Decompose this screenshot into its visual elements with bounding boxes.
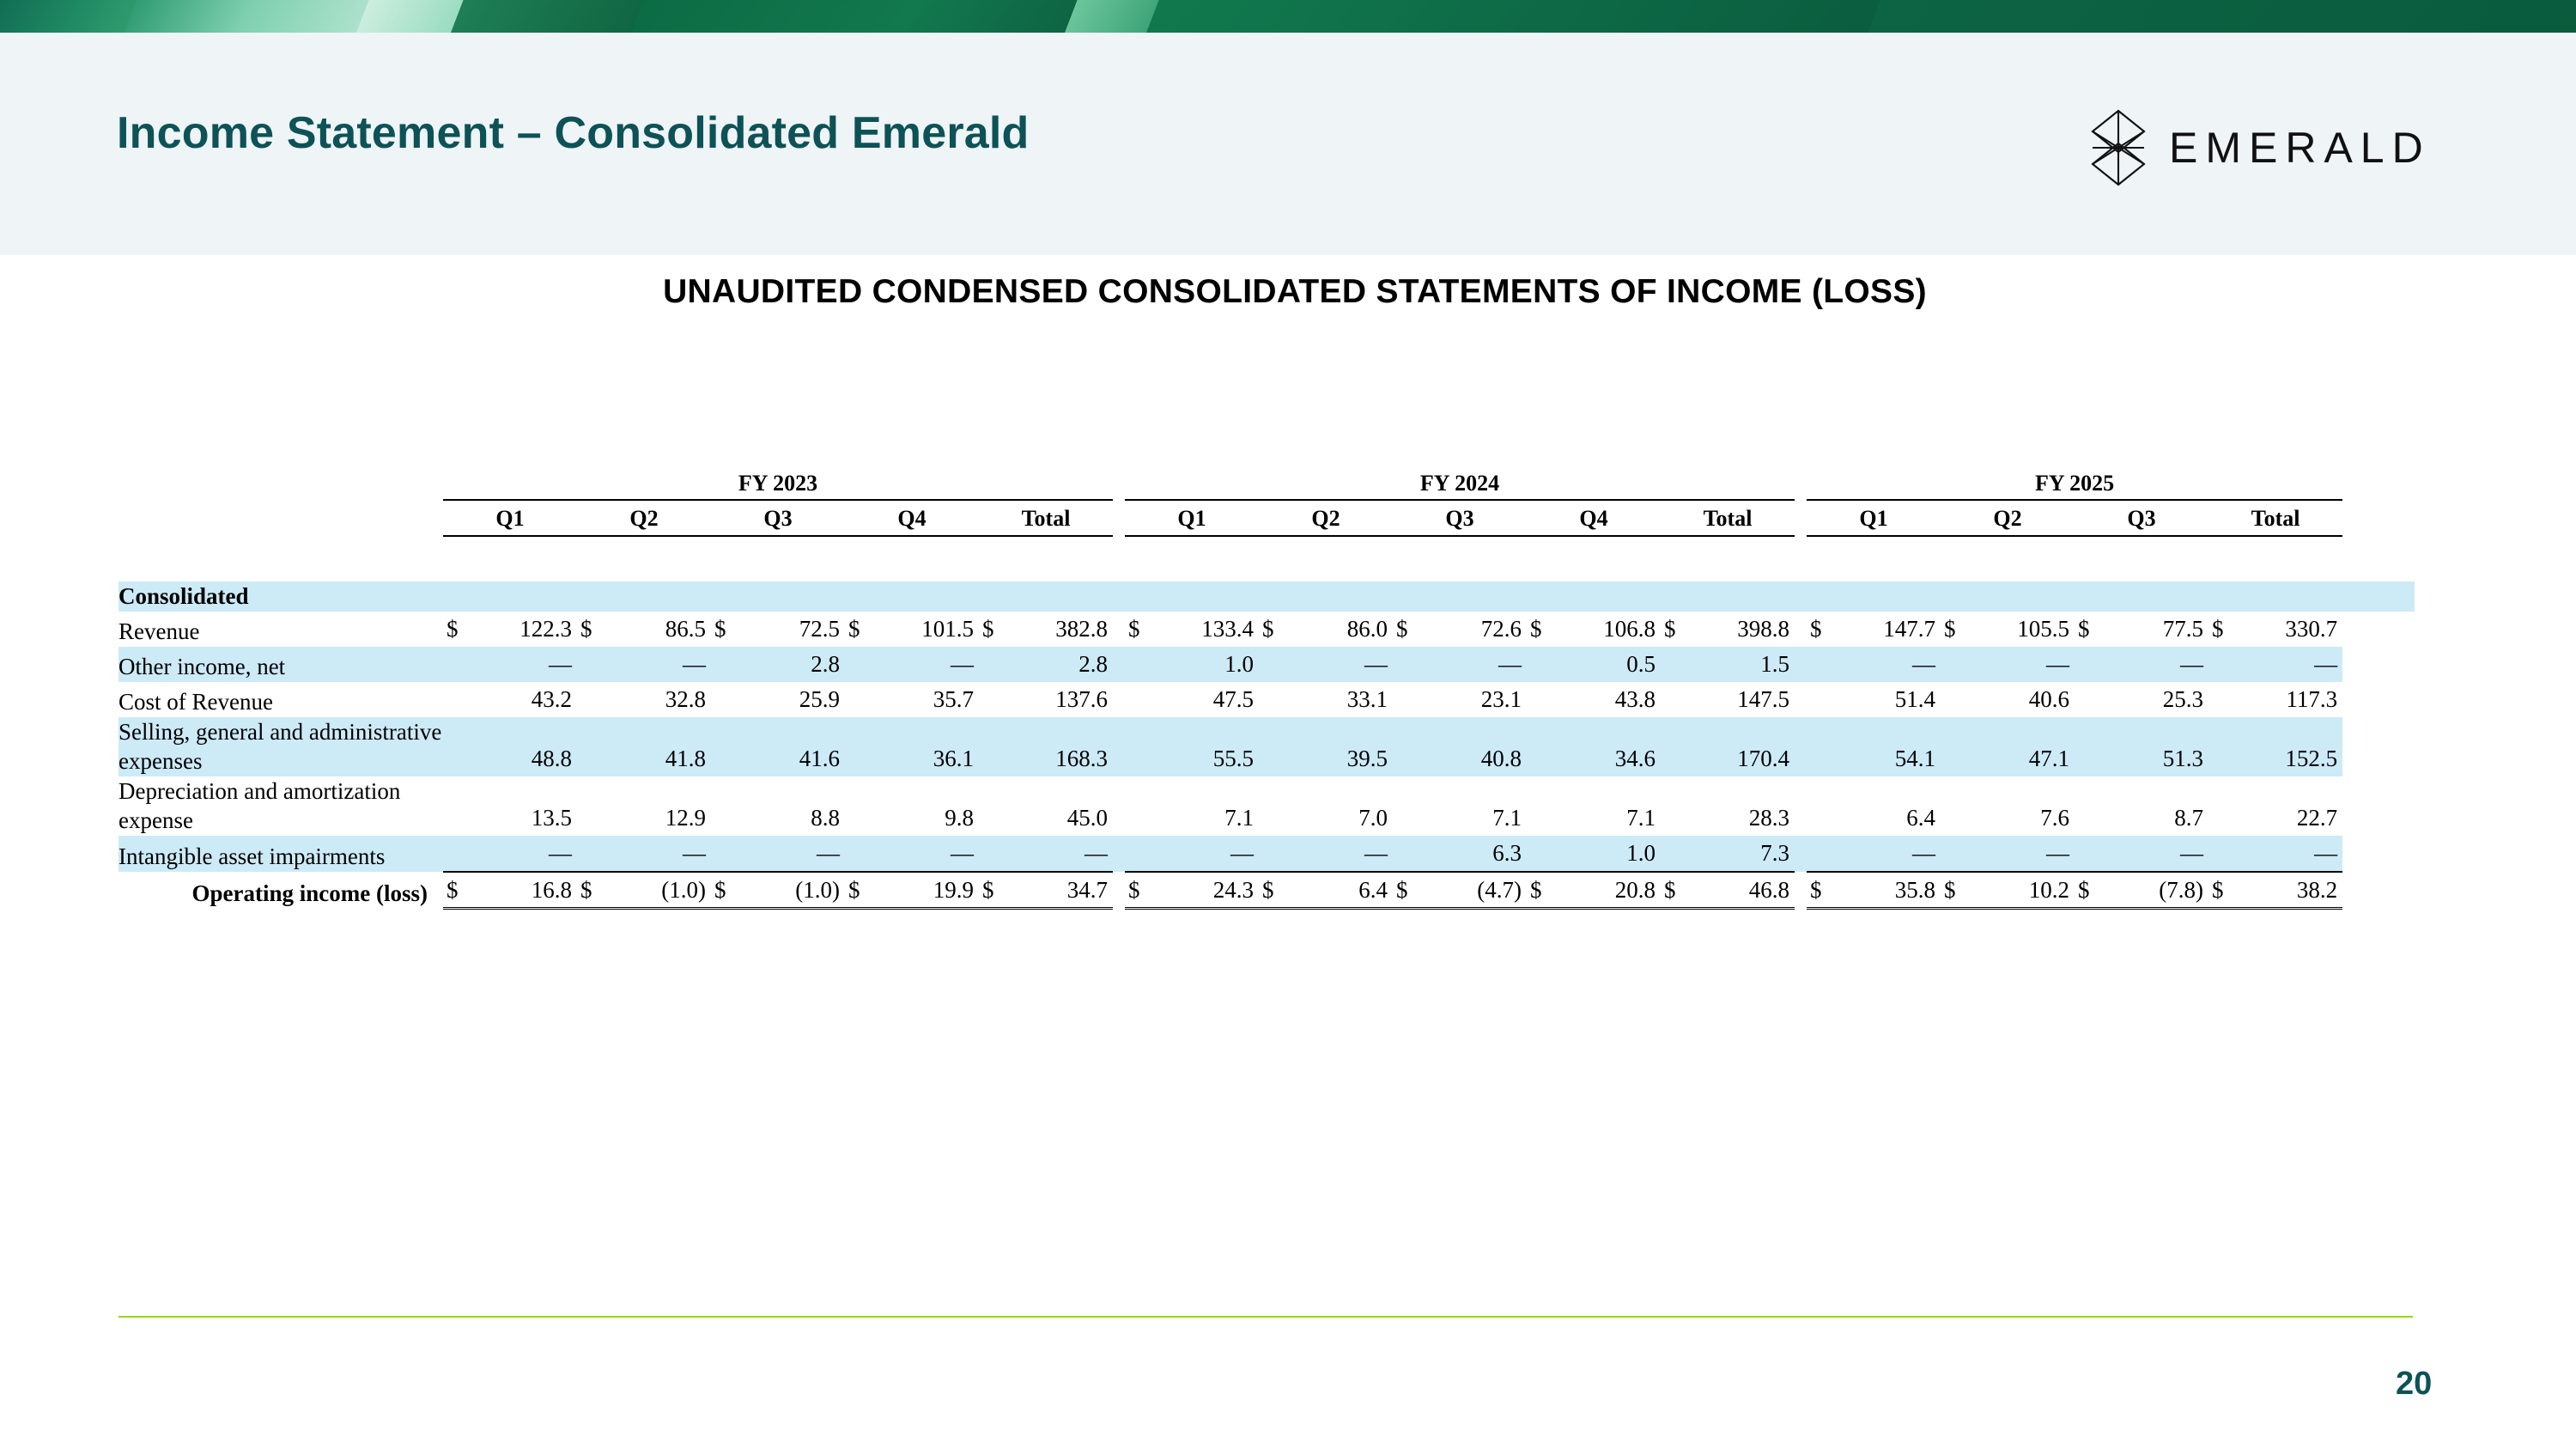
currency-symbol — [2208, 647, 2238, 682]
fy-gap — [1795, 471, 1807, 500]
page-title: Income Statement – Consolidated Emerald — [117, 107, 1030, 159]
row-label: Intangible asset impairments — [118, 836, 443, 872]
col-header-fy2025-q2: Q2 — [1941, 500, 2075, 536]
cell-value: 35.8 — [1836, 872, 1941, 909]
currency-symbol: $ — [1125, 872, 1154, 909]
cell-value: — — [1970, 836, 2075, 872]
cell-value: 25.3 — [2104, 682, 2208, 717]
cell-value: 1.0 — [1556, 836, 1661, 872]
cell-value: 40.8 — [1422, 717, 1527, 776]
cell-value: — — [2238, 836, 2342, 872]
currency-symbol — [1527, 647, 1556, 682]
cell-value: 6.4 — [1836, 776, 1941, 836]
cell-value: 7.1 — [1422, 776, 1527, 836]
group-gap — [1113, 872, 1125, 909]
currency-symbol — [577, 682, 606, 717]
currency-symbol — [577, 647, 606, 682]
cell-value: — — [1008, 836, 1113, 872]
cell-value: 46.8 — [1690, 872, 1795, 909]
currency-symbol — [1125, 776, 1154, 836]
currency-symbol — [2208, 776, 2238, 836]
currency-symbol — [845, 836, 874, 872]
group-gap — [1113, 836, 1125, 872]
cell-value: 48.8 — [472, 717, 577, 776]
currency-symbol — [1527, 776, 1556, 836]
table-row: Other income, net——2.8—2.81.0——0.51.5———… — [118, 647, 2415, 682]
cell-value: 101.5 — [874, 612, 979, 647]
cell-value: 7.6 — [1970, 776, 2075, 836]
currency-symbol — [577, 776, 606, 836]
currency-symbol — [1259, 836, 1288, 872]
group-gap — [1795, 717, 1807, 776]
currency-symbol — [2075, 682, 2104, 717]
currency-symbol: $ — [979, 872, 1008, 909]
currency-symbol — [979, 647, 1008, 682]
cell-value: 72.5 — [740, 612, 845, 647]
quarter-header-blank — [118, 500, 443, 536]
cell-value: 28.3 — [1690, 776, 1795, 836]
group-gap — [1113, 776, 1125, 836]
currency-symbol — [443, 776, 472, 836]
cell-value: 0.5 — [1556, 647, 1661, 682]
cell-value: 9.8 — [874, 776, 979, 836]
cell-value: 2.8 — [740, 647, 845, 682]
currency-symbol — [1527, 836, 1556, 872]
cell-value: 13.5 — [472, 776, 577, 836]
currency-symbol — [1259, 647, 1288, 682]
currency-symbol — [1807, 682, 1836, 717]
currency-symbol: $ — [2208, 872, 2238, 909]
currency-symbol — [443, 682, 472, 717]
cell-value: 36.1 — [874, 717, 979, 776]
cell-value: 43.2 — [472, 682, 577, 717]
currency-symbol — [1807, 717, 1836, 776]
cell-value: — — [606, 647, 711, 682]
cell-value: 106.8 — [1556, 612, 1661, 647]
currency-symbol — [1807, 776, 1836, 836]
cell-value: — — [1970, 647, 2075, 682]
cell-value: 6.4 — [1288, 872, 1393, 909]
cell-value: 10.2 — [1970, 872, 2075, 909]
cell-value: — — [1422, 647, 1527, 682]
currency-symbol: $ — [979, 612, 1008, 647]
emerald-gem-icon — [2090, 108, 2147, 187]
cell-value: 25.9 — [740, 682, 845, 717]
currency-symbol — [2208, 682, 2238, 717]
cell-value: 170.4 — [1690, 717, 1795, 776]
footer-divider — [118, 1316, 2413, 1318]
currency-symbol: $ — [1527, 872, 1556, 909]
currency-symbol — [2075, 717, 2104, 776]
currency-symbol — [845, 776, 874, 836]
cell-value: 41.6 — [740, 717, 845, 776]
cell-value: 19.9 — [874, 872, 979, 909]
group-gap — [1795, 776, 1807, 836]
cell-value: (1.0) — [606, 872, 711, 909]
fiscal-year-header-row: FY 2023 FY 2024 FY 2025 — [118, 471, 2415, 500]
group-gap — [1113, 647, 1125, 682]
cell-value: 41.8 — [606, 717, 711, 776]
cell-value: — — [2104, 647, 2208, 682]
cell-value: 7.1 — [1154, 776, 1259, 836]
banner-stripe — [621, 0, 1097, 33]
cell-value: 47.1 — [1970, 717, 2075, 776]
group-gap — [1795, 682, 1807, 717]
currency-symbol — [979, 836, 1008, 872]
cell-value: 86.0 — [1288, 612, 1393, 647]
quarter-gap — [1113, 500, 1125, 536]
fy-gap — [1113, 471, 1125, 500]
page-number: 20 — [2396, 1366, 2432, 1403]
row-label: Cost of Revenue — [118, 682, 443, 717]
statement-subtitle-text: UNAUDITED CONDENSED CONSOLIDATED STATEME… — [663, 273, 1927, 310]
currency-symbol — [1125, 836, 1154, 872]
row-label: Operating income (loss) — [118, 872, 443, 909]
cell-value: 32.8 — [606, 682, 711, 717]
currency-symbol — [711, 647, 740, 682]
cell-value: 20.8 — [1556, 872, 1661, 909]
group-gap — [1795, 872, 1807, 909]
cell-value: 35.7 — [874, 682, 979, 717]
cell-value: 8.8 — [740, 776, 845, 836]
statement-subtitle: UNAUDITED CONDENSED CONSOLIDATED STATEME… — [0, 273, 2576, 311]
cell-value: (1.0) — [740, 872, 845, 909]
cell-value: 7.0 — [1288, 776, 1393, 836]
currency-symbol — [443, 717, 472, 776]
currency-symbol: $ — [1125, 612, 1154, 647]
currency-symbol: $ — [1807, 872, 1836, 909]
cell-value: 34.7 — [1008, 872, 1113, 909]
currency-symbol — [979, 717, 1008, 776]
cell-value: (4.7) — [1422, 872, 1527, 909]
currency-symbol: $ — [1259, 612, 1288, 647]
currency-symbol: $ — [2208, 612, 2238, 647]
cell-value: — — [1288, 836, 1393, 872]
cell-value: — — [1288, 647, 1393, 682]
col-header-fy2024-q4: Q4 — [1527, 500, 1661, 536]
header-spacer-cell — [118, 536, 2415, 581]
fy-group-fy2024: FY 2024 — [1125, 471, 1795, 500]
currency-symbol: $ — [577, 612, 606, 647]
currency-symbol: $ — [1807, 612, 1836, 647]
group-gap — [1113, 717, 1125, 776]
cell-value: — — [472, 836, 577, 872]
currency-symbol — [1941, 682, 1970, 717]
currency-symbol — [1661, 647, 1690, 682]
col-header-fy2024-q1: Q1 — [1125, 500, 1259, 536]
col-header-fy2024-total: Total — [1661, 500, 1795, 536]
currency-symbol — [1393, 836, 1422, 872]
section-fill — [443, 581, 2415, 612]
cell-value: 7.1 — [1556, 776, 1661, 836]
currency-symbol — [1661, 836, 1690, 872]
col-header-fy2025-q3: Q3 — [2075, 500, 2208, 536]
currency-symbol — [2075, 836, 2104, 872]
col-header-fy2025-q1: Q1 — [1807, 500, 1941, 536]
cell-value: — — [2104, 836, 2208, 872]
currency-symbol — [979, 776, 1008, 836]
cell-value: — — [1836, 647, 1941, 682]
table-row: Intangible asset impairments———————6.31.… — [118, 836, 2415, 872]
cell-value: 2.8 — [1008, 647, 1113, 682]
table-row: Selling, general and administrative expe… — [118, 717, 2415, 776]
currency-symbol — [577, 836, 606, 872]
currency-symbol — [1941, 776, 1970, 836]
brand-logo: EMERALD — [2090, 108, 2431, 187]
currency-symbol — [711, 776, 740, 836]
currency-symbol: $ — [1661, 872, 1690, 909]
cell-value: 1.5 — [1690, 647, 1795, 682]
currency-symbol — [1941, 836, 1970, 872]
currency-symbol: $ — [711, 872, 740, 909]
table-section-row: Consolidated — [118, 581, 2415, 612]
currency-symbol: $ — [2075, 872, 2104, 909]
cell-value: 86.5 — [606, 612, 711, 647]
col-header-fy2023-total: Total — [979, 500, 1113, 536]
cell-value: 33.1 — [1288, 682, 1393, 717]
cell-value: 1.0 — [1154, 647, 1259, 682]
cell-value: 7.3 — [1690, 836, 1795, 872]
row-label: Other income, net — [118, 647, 443, 682]
table-row: Operating income (loss)$16.8$(1.0)$(1.0)… — [118, 872, 2415, 909]
cell-value: — — [472, 647, 577, 682]
col-header-fy2023-q4: Q4 — [845, 500, 979, 536]
cell-value: 39.5 — [1288, 717, 1393, 776]
cell-value: 8.7 — [2104, 776, 2208, 836]
currency-symbol — [1125, 682, 1154, 717]
cell-value: 147.5 — [1690, 682, 1795, 717]
currency-symbol — [1941, 647, 1970, 682]
currency-symbol: $ — [711, 612, 740, 647]
cell-value: 12.9 — [606, 776, 711, 836]
col-header-fy2024-q3: Q3 — [1393, 500, 1527, 536]
currency-symbol — [1527, 682, 1556, 717]
cell-value: 45.0 — [1008, 776, 1113, 836]
cell-value: 152.5 — [2238, 717, 2342, 776]
income-statement-body: ConsolidatedRevenue$122.3$86.5$72.5$101.… — [118, 581, 2415, 908]
cell-value: 117.3 — [2238, 682, 2342, 717]
currency-symbol — [1259, 717, 1288, 776]
currency-symbol — [1259, 776, 1288, 836]
col-header-fy2024-q2: Q2 — [1259, 500, 1393, 536]
currency-symbol — [845, 717, 874, 776]
currency-symbol — [711, 717, 740, 776]
currency-symbol — [711, 682, 740, 717]
cell-value: 54.1 — [1836, 717, 1941, 776]
currency-symbol — [1941, 717, 1970, 776]
cell-value: — — [2238, 647, 2342, 682]
currency-symbol — [1393, 717, 1422, 776]
currency-symbol: $ — [1941, 612, 1970, 647]
col-header-fy2023-q1: Q1 — [443, 500, 577, 536]
cell-value: — — [1836, 836, 1941, 872]
cell-value: 22.7 — [2238, 776, 2342, 836]
fy-header-blank — [118, 471, 443, 500]
currency-symbol — [1807, 647, 1836, 682]
cell-value: 38.2 — [2238, 872, 2342, 909]
currency-symbol — [2208, 717, 2238, 776]
cell-value: 34.6 — [1556, 717, 1661, 776]
header-spacer-row — [118, 536, 2415, 581]
section-label: Consolidated — [118, 581, 443, 612]
cell-value: 6.3 — [1422, 836, 1527, 872]
table-row: Cost of Revenue43.232.825.935.7137.647.5… — [118, 682, 2415, 717]
col-header-fy2025-total: Total — [2208, 500, 2342, 536]
currency-symbol: $ — [2075, 612, 2104, 647]
currency-symbol — [443, 836, 472, 872]
cell-value: 168.3 — [1008, 717, 1113, 776]
col-header-fy2023-q2: Q2 — [577, 500, 711, 536]
currency-symbol — [1125, 717, 1154, 776]
banner-stripe — [1857, 0, 2576, 33]
brand-wordmark: EMERALD — [2169, 123, 2431, 173]
currency-symbol — [2208, 836, 2238, 872]
currency-symbol: $ — [1393, 872, 1422, 909]
currency-symbol — [1393, 776, 1422, 836]
table-row: Revenue$122.3$86.5$72.5$101.5$382.8$133.… — [118, 612, 2415, 647]
currency-symbol — [577, 717, 606, 776]
currency-symbol: $ — [1259, 872, 1288, 909]
cell-value: — — [740, 836, 845, 872]
currency-symbol — [2075, 776, 2104, 836]
currency-symbol: $ — [1661, 612, 1690, 647]
currency-symbol: $ — [845, 872, 874, 909]
cell-value: (7.8) — [2104, 872, 2208, 909]
currency-symbol — [443, 647, 472, 682]
currency-symbol — [1527, 717, 1556, 776]
row-label: Selling, general and administrative expe… — [118, 717, 443, 776]
quarter-header-row: Q1 Q2 Q3 Q4 Total Q1 Q2 Q3 Q4 Total Q1 Q… — [118, 500, 2415, 536]
income-statement-table: FY 2023 FY 2024 FY 2025 Q1 Q2 Q3 Q4 Tota… — [118, 471, 2415, 910]
row-label: Revenue — [118, 612, 443, 647]
cell-value: 122.3 — [472, 612, 577, 647]
decorative-top-banner — [0, 0, 2576, 33]
cell-value: 147.7 — [1836, 612, 1941, 647]
cell-value: 77.5 — [2104, 612, 2208, 647]
currency-symbol: $ — [1527, 612, 1556, 647]
cell-value: 47.5 — [1154, 682, 1259, 717]
currency-symbol — [1393, 647, 1422, 682]
currency-symbol — [1661, 776, 1690, 836]
currency-symbol: $ — [443, 612, 472, 647]
fy-group-fy2023: FY 2023 — [443, 471, 1113, 500]
currency-symbol — [1259, 682, 1288, 717]
currency-symbol — [1125, 647, 1154, 682]
cell-value: — — [874, 647, 979, 682]
cell-value: 382.8 — [1008, 612, 1113, 647]
currency-symbol: $ — [1393, 612, 1422, 647]
cell-value: 51.3 — [2104, 717, 2208, 776]
cell-value: 23.1 — [1422, 682, 1527, 717]
cell-value: 105.5 — [1970, 612, 2075, 647]
group-gap — [1795, 647, 1807, 682]
group-gap — [1113, 612, 1125, 647]
fy-group-fy2025: FY 2025 — [1807, 471, 2342, 500]
quarter-gap — [1795, 500, 1807, 536]
currency-symbol: $ — [577, 872, 606, 909]
currency-symbol — [1661, 682, 1690, 717]
cell-value: 40.6 — [1970, 682, 2075, 717]
table-row: Depreciation and amortization expense13.… — [118, 776, 2415, 836]
cell-value: 330.7 — [2238, 612, 2342, 647]
cell-value: — — [1154, 836, 1259, 872]
cell-value: 55.5 — [1154, 717, 1259, 776]
cell-value: 398.8 — [1690, 612, 1795, 647]
cell-value: 133.4 — [1154, 612, 1259, 647]
currency-symbol — [845, 647, 874, 682]
cell-value: 24.3 — [1154, 872, 1259, 909]
group-gap — [1113, 682, 1125, 717]
col-header-fy2023-q3: Q3 — [711, 500, 845, 536]
currency-symbol — [1661, 717, 1690, 776]
banner-stripe — [1136, 0, 1939, 33]
currency-symbol: $ — [845, 612, 874, 647]
cell-value: 51.4 — [1836, 682, 1941, 717]
currency-symbol — [711, 836, 740, 872]
currency-symbol — [979, 682, 1008, 717]
cell-value: 43.8 — [1556, 682, 1661, 717]
currency-symbol — [2075, 647, 2104, 682]
currency-symbol — [1807, 836, 1836, 872]
cell-value: — — [606, 836, 711, 872]
group-gap — [1795, 836, 1807, 872]
cell-value: 16.8 — [472, 872, 577, 909]
group-gap — [1795, 612, 1807, 647]
currency-symbol — [845, 682, 874, 717]
currency-symbol: $ — [443, 872, 472, 909]
cell-value: — — [874, 836, 979, 872]
currency-symbol: $ — [1941, 872, 1970, 909]
currency-symbol — [1393, 682, 1422, 717]
cell-value: 72.6 — [1422, 612, 1527, 647]
row-label: Depreciation and amortization expense — [118, 776, 443, 836]
cell-value: 137.6 — [1008, 682, 1113, 717]
